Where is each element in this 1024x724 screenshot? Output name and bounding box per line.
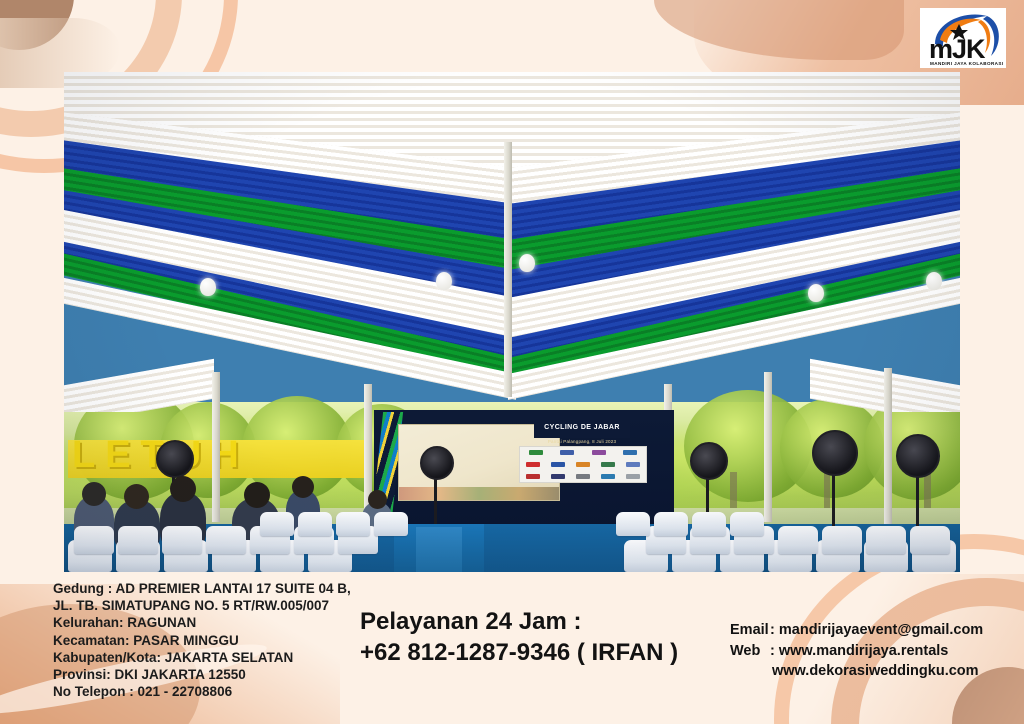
mjk-logo-icon: mJK MANDIRI JAYA KOLABORASI bbox=[921, 10, 1005, 68]
chair bbox=[866, 526, 906, 554]
standing-fan-head bbox=[896, 434, 940, 478]
standing-fan-head bbox=[690, 442, 728, 480]
chair bbox=[374, 512, 408, 536]
address-line: Provinsi: DKI JAKARTA 12550 bbox=[53, 666, 351, 683]
company-address-block: Gedung : AD PREMIER LANTAI 17 SUITE 04 B… bbox=[53, 580, 351, 700]
audience-head bbox=[170, 476, 196, 502]
service-heading: Pelayanan 24 Jam : bbox=[360, 606, 678, 637]
chair bbox=[260, 512, 294, 536]
chair bbox=[206, 526, 246, 554]
email-separator: : bbox=[770, 622, 775, 638]
background-signage-text: LETUH bbox=[72, 436, 372, 474]
email-value[interactable]: mandirijayaevent@gmail.com bbox=[779, 622, 983, 638]
chair bbox=[822, 526, 862, 554]
chair bbox=[654, 512, 688, 536]
chair bbox=[692, 512, 726, 536]
address-line: Kelurahan: RAGUNAN bbox=[53, 614, 351, 631]
email-label: Email bbox=[730, 620, 770, 641]
tent-pole-center bbox=[504, 142, 512, 397]
contact-web-line: Web: www.mandirijaya.rentals bbox=[730, 641, 983, 662]
service-hours-block: Pelayanan 24 Jam : +62 812-1287-9346 ( I… bbox=[360, 606, 678, 668]
address-line: Kecamatan: PASAR MINGGU bbox=[53, 632, 351, 649]
contact-web-line-2: www.dekorasiweddingku.com bbox=[730, 661, 983, 682]
hanging-lamp bbox=[519, 254, 535, 272]
service-phone[interactable]: +62 812-1287-9346 ( IRFAN ) bbox=[360, 637, 678, 668]
chair bbox=[616, 512, 650, 536]
event-date: Pantai Palangpang, 8 Juli 2023 bbox=[534, 439, 630, 444]
tent-canopy bbox=[64, 72, 960, 412]
standing-fan-head bbox=[420, 446, 454, 480]
standing-fan-head bbox=[812, 430, 858, 476]
chair-seating-area bbox=[64, 502, 960, 572]
chair bbox=[118, 526, 158, 554]
sponsor-row bbox=[520, 470, 646, 482]
audience-head bbox=[292, 476, 314, 498]
address-phone-line: No Telepon : 021 - 22708806 bbox=[53, 683, 351, 700]
chair bbox=[162, 526, 202, 554]
tent-pole bbox=[212, 372, 220, 522]
address-line: JL. TB. SIMATUPANG NO. 5 RT/RW.005/007 bbox=[53, 597, 351, 614]
hanging-lamp bbox=[926, 272, 942, 290]
chair bbox=[778, 526, 818, 554]
hanging-lamp bbox=[808, 284, 824, 302]
sponsor-logo-board bbox=[519, 446, 647, 483]
sponsor-row bbox=[520, 459, 646, 471]
svg-text:MANDIRI JAYA KOLABORASI: MANDIRI JAYA KOLABORASI bbox=[930, 61, 1004, 66]
web-label: Web bbox=[730, 641, 770, 662]
poster-canvas: mJK MANDIRI JAYA KOLABORASI LETUH bbox=[0, 0, 1024, 724]
contact-email-line: Email: mandirijayaevent@gmail.com bbox=[730, 620, 983, 641]
sponsor-row bbox=[520, 447, 646, 459]
web-separator: : bbox=[770, 643, 775, 659]
web-value[interactable]: www.mandirijaya.rentals bbox=[779, 643, 949, 659]
event-title: CYCLING DE JABAR bbox=[544, 424, 620, 431]
contact-block: Email: mandirijayaevent@gmail.com Web: w… bbox=[730, 620, 983, 682]
company-logo: mJK MANDIRI JAYA KOLABORASI bbox=[920, 8, 1006, 68]
photo-scene: LETUH bbox=[64, 72, 960, 572]
address-line: Gedung : AD PREMIER LANTAI 17 SUITE 04 B… bbox=[53, 580, 351, 597]
hanging-lamp bbox=[200, 278, 216, 296]
web-value-secondary[interactable]: www.dekorasiweddingku.com bbox=[772, 663, 979, 679]
chair bbox=[910, 526, 950, 554]
tent-pole bbox=[884, 368, 892, 524]
event-photo: LETUH bbox=[64, 72, 960, 572]
chair bbox=[336, 512, 370, 536]
chair bbox=[730, 512, 764, 536]
hanging-lamp bbox=[436, 272, 452, 290]
svg-text:mJK: mJK bbox=[929, 34, 986, 64]
chair bbox=[298, 512, 332, 536]
standing-fan-head bbox=[156, 440, 194, 478]
screen-image-strip bbox=[399, 487, 559, 500]
chair bbox=[74, 526, 114, 554]
address-line: Kabupaten/Kota: JAKARTA SELATAN bbox=[53, 649, 351, 666]
stage-event-banner: CYCLING DE JABAR bbox=[534, 416, 630, 438]
tent-pole bbox=[764, 372, 772, 522]
